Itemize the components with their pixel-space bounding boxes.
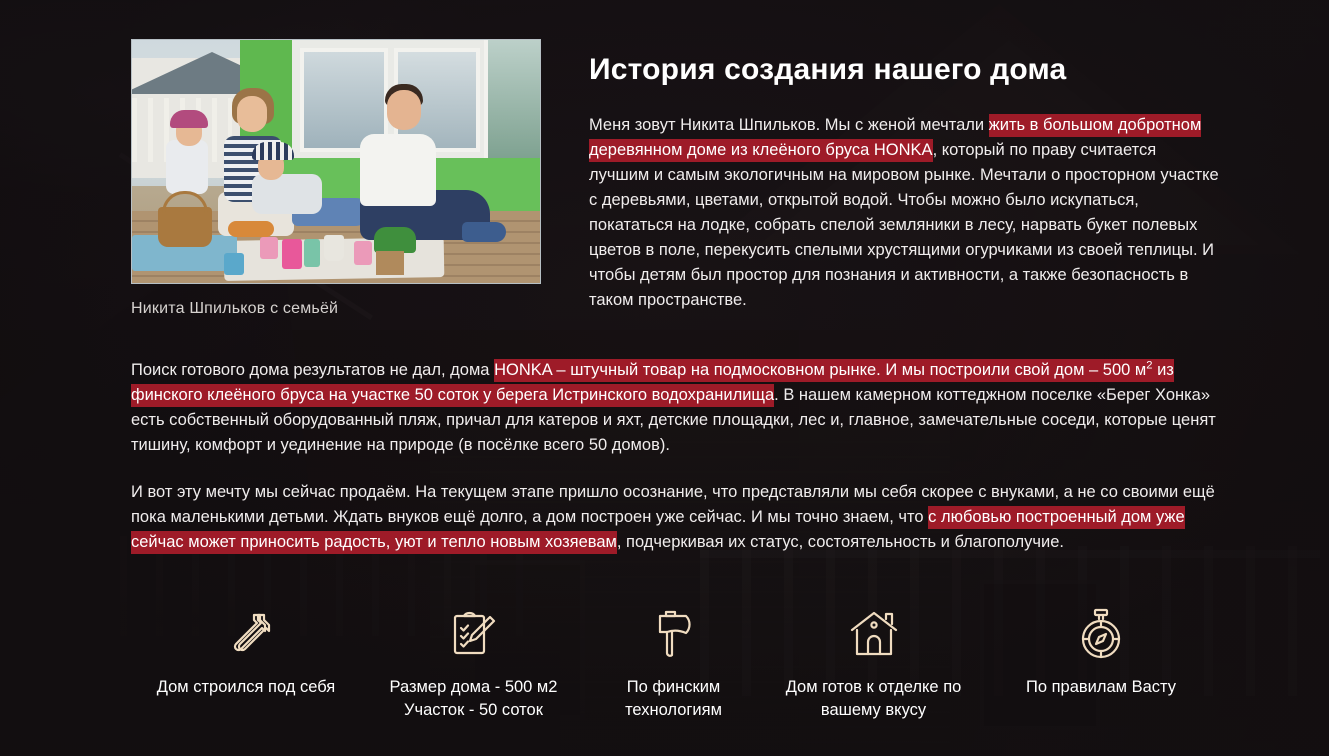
family-picnic-photo: [131, 39, 541, 284]
feature-item-house-size: Размер дома - 500 м2 Участок - 50 соток: [361, 606, 586, 722]
feature-label: По финским технологиям: [586, 676, 761, 722]
intro-paragraph: Меня зовут Никита Шпильков. Мы с женой м…: [589, 113, 1221, 313]
compass-icon: [986, 606, 1216, 662]
feature-label: Дом строился под себя: [131, 676, 361, 699]
axe-icon: [586, 606, 761, 662]
feature-label: Дом готов к отделке по вашему вкусу: [761, 676, 986, 722]
clipboard-pencil-icon: [361, 606, 586, 662]
photo-column: Никита Шпильков с семьёй: [131, 39, 541, 318]
photo-caption: Никита Шпильков с семьёй: [131, 300, 541, 318]
feature-item-built-for-self: Дом строился под себя: [131, 606, 361, 699]
tools-icon: [131, 606, 361, 662]
feature-item-ready-for-finishing: Дом готов к отделке по вашему вкусу: [761, 606, 986, 722]
body-section: Поиск готового дома результатов не дал, …: [131, 358, 1221, 555]
feature-label: Размер дома - 500 м2 Участок - 50 соток: [361, 676, 586, 722]
feature-label: По правилам Васту: [986, 676, 1216, 699]
page-content: Никита Шпильков с семьёй История создани…: [0, 0, 1329, 756]
feature-item-vastu: По правилам Васту: [986, 606, 1216, 699]
intro-text-column: История создания нашего дома Меня зовут …: [589, 39, 1221, 318]
paragraph-three: И вот эту мечту мы сейчас продаём. На те…: [131, 480, 1221, 555]
page-title: История создания нашего дома: [589, 53, 1221, 87]
intro-section: Никита Шпильков с семьёй История создани…: [131, 39, 1221, 318]
house-icon: [761, 606, 986, 662]
feature-list: Дом строился под себя Размер дома - 500 …: [131, 606, 1321, 722]
paragraph-two: Поиск готового дома результатов не дал, …: [131, 358, 1221, 458]
feature-item-finnish-tech: По финским технологиям: [586, 606, 761, 722]
